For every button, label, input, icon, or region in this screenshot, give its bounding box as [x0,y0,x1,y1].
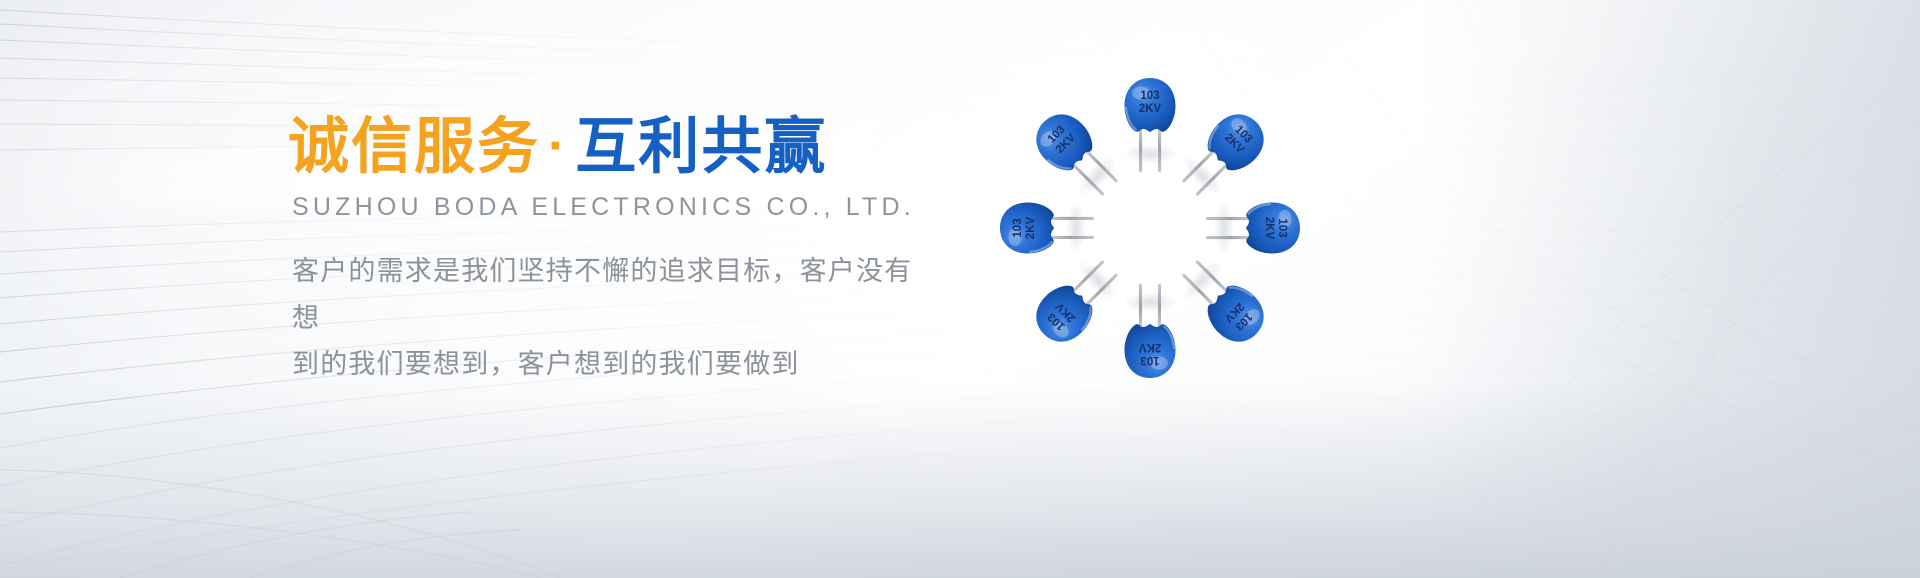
body-copy-line-1: 客户的需求是我们坚持不懈的追求目标，客户没有想 [292,248,932,341]
capacitor-ring-icon: 103 2KV [940,28,1360,428]
banner-text-block: 诚信服务·互利共赢 SUZHOU BODA ELECTRONICS CO., L… [288,112,988,388]
hero-banner: 诚信服务·互利共赢 SUZHOU BODA ELECTRONICS CO., L… [0,0,1920,578]
banner-headline: 诚信服务·互利共赢 [288,112,988,180]
capacitor-item [1124,78,1176,172]
body-copy-line-2: 到的我们要想到，客户想到的我们要做到 [292,341,932,387]
capacitor-item [1026,249,1129,352]
capacitor-item [1124,284,1176,378]
capacitor-item [1206,202,1300,254]
company-name-english: SUZHOU BODA ELECTRONICS CO., LTD. [292,193,988,222]
headline-segment-blue: 互利共赢 [575,112,827,180]
headline-separator-dot: · [540,117,575,175]
capacitor-item [1171,104,1274,207]
capacitor-item [1171,249,1274,352]
capacitor-item [1000,202,1094,254]
capacitor-item [1026,104,1129,207]
headline-segment-orange: 诚信服务 [288,112,540,180]
banner-body-copy: 客户的需求是我们坚持不懈的追求目标，客户没有想 到的我们要想到，客户想到的我们要… [292,248,932,387]
background-shade-right [1421,0,1920,578]
capacitor-ring-image: 103 2KV [940,28,1360,428]
